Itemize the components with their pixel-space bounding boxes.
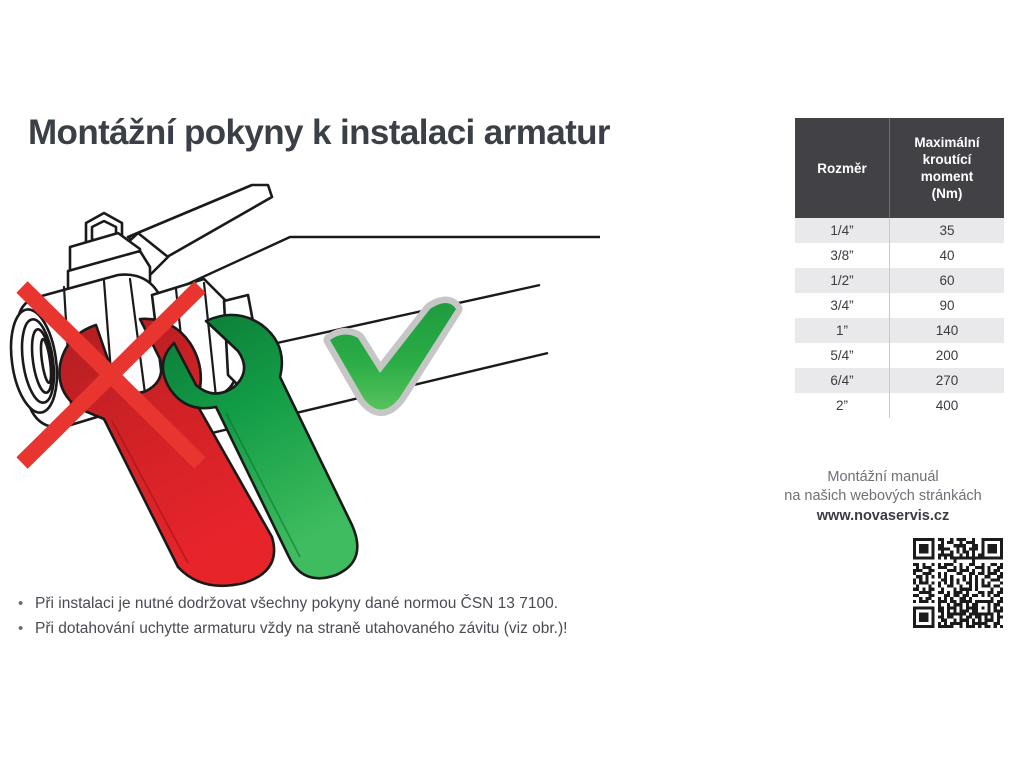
table-body: 1/4” 35 3/8” 40 1/2” 60 3/4” 90 1” 140 5… [795,218,1004,418]
installation-notes: • Při instalaci je nutné dodržovat všech… [18,594,658,644]
cell-torque: 90 [890,293,1005,318]
illustration-ball-valve [0,175,640,595]
column-header-size: Rozměr [795,118,890,218]
list-item: • Při dotahování uchytte armaturu vždy n… [18,619,658,639]
table-header-row: Rozměr Maximální kroutící moment (Nm) [795,118,1004,218]
table-row: 1” 140 [795,318,1004,343]
bullet-glyph: • [18,619,35,639]
manual-line-2: na našich webových stránkách [763,487,1003,506]
column-header-torque-line: kroutící [890,151,1004,168]
green-check-icon [330,303,456,410]
cell-torque: 400 [890,393,1005,418]
column-header-torque-line: Maximální [890,134,1004,151]
manual-line-1: Montážní manuál [763,468,1003,487]
cell-size: 3/8” [795,243,890,268]
torque-table: Rozměr Maximální kroutící moment (Nm) 1/… [795,118,1004,418]
list-item: • Při instalaci je nutné dodržovat všech… [18,594,658,614]
table-header: Rozměr Maximální kroutící moment (Nm) [795,118,1004,218]
cell-torque: 60 [890,268,1005,293]
page-root: Montážní pokyny k instalaci armatur [0,0,1024,768]
qr-code[interactable] [913,538,1003,628]
column-header-torque-line: (Nm) [890,185,1004,202]
manual-promo: Montážní manuál na našich webových strán… [763,468,1003,526]
cell-size: 6/4” [795,368,890,393]
column-header-torque-line: moment [890,168,1004,185]
bullet-glyph: • [18,594,35,614]
table-row: 1/4” 35 [795,218,1004,243]
table-row: 2” 400 [795,393,1004,418]
cell-torque: 140 [890,318,1005,343]
table-row: 5/4” 200 [795,343,1004,368]
cell-torque: 35 [890,218,1005,243]
column-header-torque: Maximální kroutící moment (Nm) [890,118,1005,218]
cell-torque: 200 [890,343,1005,368]
table-row: 3/4” 90 [795,293,1004,318]
cell-size: 5/4” [795,343,890,368]
table-row: 1/2” 60 [795,268,1004,293]
cell-size: 1/4” [795,218,890,243]
cell-size: 1” [795,318,890,343]
cell-size: 1/2” [795,268,890,293]
table-row: 6/4” 270 [795,368,1004,393]
cell-torque: 270 [890,368,1005,393]
table-row: 3/8” 40 [795,243,1004,268]
page-title: Montážní pokyny k instalaci armatur [28,113,610,153]
note-text: Při instalaci je nutné dodržovat všechny… [35,594,558,614]
cell-torque: 40 [890,243,1005,268]
cell-size: 3/4” [795,293,890,318]
website-url[interactable]: www.novaservis.cz [763,506,1003,526]
note-text: Při dotahování uchytte armaturu vždy na … [35,619,567,639]
cell-size: 2” [795,393,890,418]
